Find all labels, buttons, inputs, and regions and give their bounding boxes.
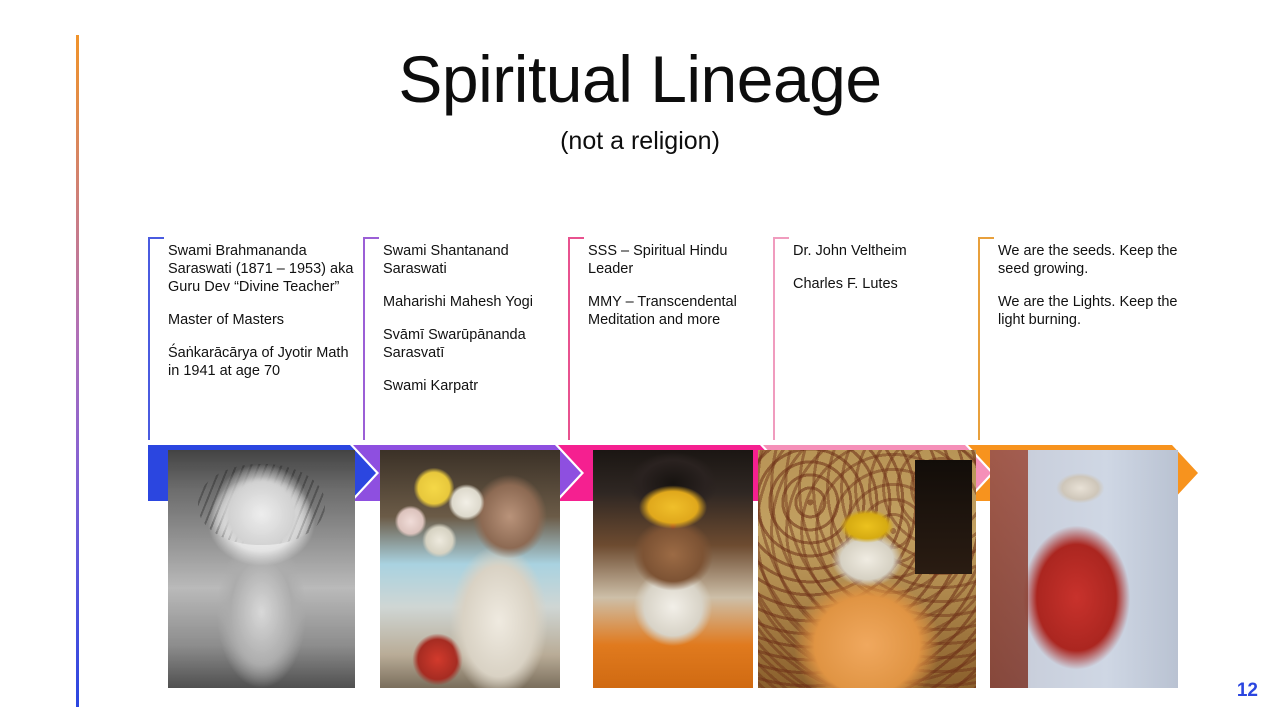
left-accent-rule <box>76 35 79 707</box>
column-2-paragraph-2: Maharishi Mahesh Yogi <box>383 293 563 311</box>
page-title: Spiritual Lineage <box>150 42 1130 116</box>
column-2-paragraph-1: Swami Shantanand Saraswati <box>383 242 563 278</box>
bracket-vertical-5 <box>978 237 980 440</box>
column-1-paragraph-2: Master of Masters <box>168 311 358 329</box>
column-2-paragraph-4: Swami Karpatr <box>383 377 563 395</box>
photo-1 <box>168 450 355 688</box>
bracket-vertical-1 <box>148 237 150 440</box>
column-5-paragraph-2: We are the Lights. Keep the light burnin… <box>998 293 1190 329</box>
photo-5-art <box>990 450 1178 688</box>
text-column-2: Swami Shantanand Saraswati Maharishi Mah… <box>363 232 563 440</box>
photo-1-art <box>168 450 355 688</box>
text-column-5: We are the seeds. Keep the seed growing.… <box>978 232 1190 440</box>
title-block: Spiritual Lineage (not a religion) <box>150 42 1130 156</box>
bracket-cap-5 <box>978 237 994 239</box>
photo-2 <box>380 450 560 688</box>
column-5-paragraph-1: We are the seeds. Keep the seed growing. <box>998 242 1190 278</box>
bracket-cap-4 <box>773 237 789 239</box>
text-column-1: Swami Brahmananda Saraswati (1871 – 1953… <box>148 232 358 440</box>
column-3-paragraph-2: MMY – Transcendental Meditation and more <box>588 293 768 329</box>
photo-4 <box>758 450 976 688</box>
photo-5 <box>990 450 1178 688</box>
column-1-paragraph-3: Śaṅkarācārya of Jyotir Math in 1941 at a… <box>168 344 358 380</box>
column-3-paragraph-1: SSS – Spiritual Hindu Leader <box>588 242 768 278</box>
bracket-vertical-4 <box>773 237 775 440</box>
bracket-vertical-3 <box>568 237 570 440</box>
photo-4-art <box>758 450 976 688</box>
text-columns: Swami Brahmananda Saraswati (1871 – 1953… <box>148 232 1190 440</box>
photo-3-art <box>593 450 753 688</box>
bracket-cap-1 <box>148 237 164 239</box>
bracket-vertical-2 <box>363 237 365 440</box>
photo-band <box>148 450 1198 690</box>
page-subtitle: (not a religion) <box>150 126 1130 156</box>
text-column-4: Dr. John Veltheim Charles F. Lutes <box>773 232 973 440</box>
column-4-paragraph-1: Dr. John Veltheim <box>793 242 973 260</box>
text-column-3: SSS – Spiritual Hindu Leader MMY – Trans… <box>568 232 768 440</box>
column-1-paragraph-1: Swami Brahmananda Saraswati (1871 – 1953… <box>168 242 358 296</box>
page-number: 12 <box>1237 680 1258 702</box>
photo-3 <box>593 450 753 688</box>
photo-2-art <box>380 450 560 688</box>
bracket-cap-3 <box>568 237 584 239</box>
column-4-paragraph-2: Charles F. Lutes <box>793 275 973 293</box>
column-2-paragraph-3: Svāmī Swarūpānanda Sarasvatī <box>383 326 563 362</box>
bracket-cap-2 <box>363 237 379 239</box>
